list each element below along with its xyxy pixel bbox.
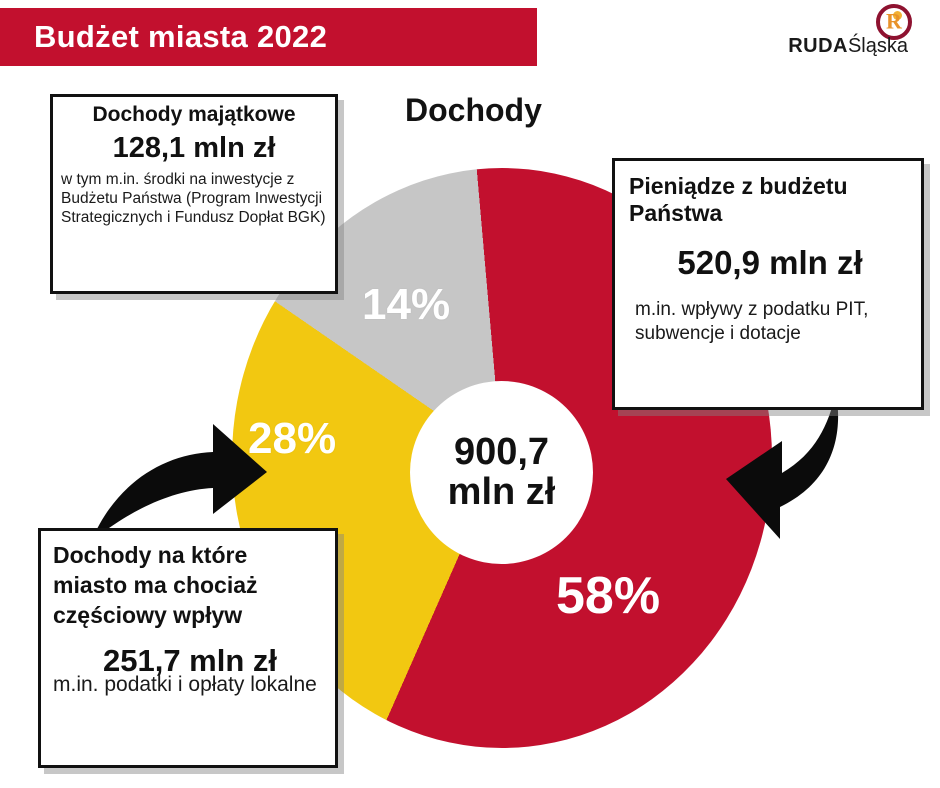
callout-heading: Pieniądze z budżetu Państwa — [629, 173, 911, 226]
chart-heading: Dochody — [405, 92, 542, 129]
callout-pieniadze-z-budzetu-panstwa: Pieniądze z budżetu Państwa 520,9 mln zł… — [612, 158, 924, 410]
city-logo: R RUDAŚląska — [764, 4, 914, 64]
callout-dochody-majatkowe: Dochody majątkowe 128,1 mln zł w tym m.i… — [50, 94, 338, 294]
arrow-to-red-slice — [640, 385, 870, 555]
pie-center-value: 900,7 — [454, 433, 549, 472]
logo-name-bold: RUDA — [788, 35, 848, 57]
logo-wordmark: RUDAŚląska — [788, 35, 908, 58]
page-title: Budżet miasta 2022 — [0, 19, 327, 55]
callout-dochody-czesciowy-wplyw: Dochody na które miasto ma chociaż częśc… — [38, 528, 338, 768]
callout-heading: Dochody na które miasto ma chociaż częśc… — [53, 541, 327, 631]
callout-description: w tym m.in. środki na inwestycje z Budże… — [61, 171, 327, 228]
emblem-letter: R — [886, 11, 902, 33]
title-banner: Budżet miasta 2022 — [0, 8, 537, 66]
callout-amount: 520,9 mln zł — [629, 244, 911, 282]
slice-percent-panstwo: 58% — [556, 566, 660, 626]
callout-description: m.in. wpływy z podatku PIT, subwencje i … — [629, 298, 911, 346]
pie-center-total: 900,7 mln zł — [410, 381, 593, 564]
pie-center-unit: mln zł — [448, 473, 556, 512]
logo-name-light: Śląska — [848, 35, 908, 57]
callout-amount: 128,1 mln zł — [61, 132, 327, 165]
callout-heading: Dochody majątkowe — [61, 103, 327, 126]
infographic-canvas: Budżet miasta 2022 R RUDAŚląska Dochody … — [0, 0, 940, 788]
slice-percent-majatkowe: 14% — [362, 280, 450, 330]
callout-description: m.in. podatki i opłaty lokalne — [53, 673, 327, 698]
